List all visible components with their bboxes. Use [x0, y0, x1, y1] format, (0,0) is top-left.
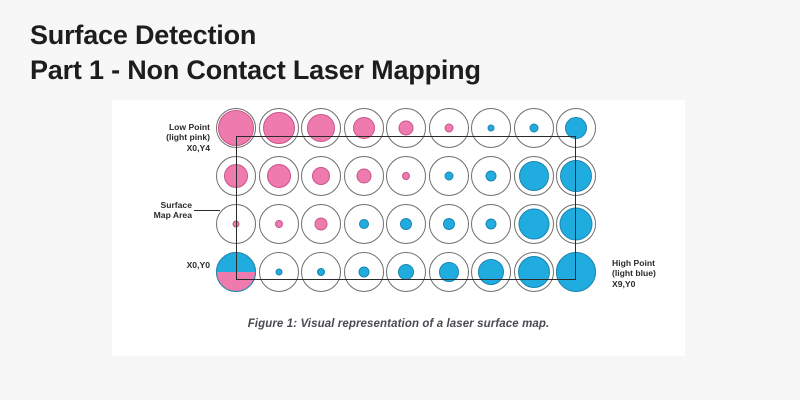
map-cell-x1-y2[interactable] [259, 204, 299, 244]
map-cell-x4-y2[interactable] [386, 204, 426, 244]
callout-surface-map-area-line-2: Map Area [134, 210, 192, 220]
callout-low-point-line-1: Low Point [140, 122, 210, 132]
map-cell-x0-y4[interactable] [216, 108, 256, 148]
height-dot-split [216, 252, 256, 292]
height-dot-pink [356, 169, 371, 184]
height-dot-blue [518, 256, 550, 288]
height-dot-blue [478, 259, 504, 285]
callout-origin-line-1: X0,Y0 [150, 260, 210, 270]
figure-panel: Low Point (light pink) X0,Y4 Surface Map… [112, 100, 685, 356]
map-cell-x4-y3[interactable] [386, 156, 426, 196]
height-dot-blue [519, 161, 549, 191]
map-cell-x0-y3[interactable] [216, 156, 256, 196]
height-dot-blue [486, 171, 497, 182]
height-dot-blue [486, 219, 497, 230]
page-title-line-2: Part 1 - Non Contact Laser Mapping [30, 53, 481, 88]
map-cell-x5-y2[interactable] [429, 204, 469, 244]
map-cell-x2-y2[interactable] [301, 204, 341, 244]
map-cell-x5-y4[interactable] [429, 108, 469, 148]
map-cell-x4-y4[interactable] [386, 108, 426, 148]
map-cell-x1-y1[interactable] [259, 252, 299, 292]
height-dot-blue [560, 160, 592, 192]
height-dot-blue [560, 208, 593, 241]
page-root: Surface Detection Part 1 - Non Contact L… [0, 0, 800, 400]
map-cell-x6-y1[interactable] [471, 252, 511, 292]
map-cell-x2-y4[interactable] [301, 108, 341, 148]
callout-low-point-line-3: X0,Y4 [140, 143, 210, 153]
map-cell-x3-y2[interactable] [344, 204, 384, 244]
height-dot-pink [353, 117, 375, 139]
height-dot-blue [317, 268, 325, 276]
height-dot-pink [218, 110, 254, 146]
map-cell-x8-y1[interactable] [556, 252, 596, 292]
map-cell-x3-y3[interactable] [344, 156, 384, 196]
map-cell-x3-y1[interactable] [344, 252, 384, 292]
callout-surface-map-area: Surface Map Area [134, 200, 192, 221]
height-dot-blue [400, 218, 412, 230]
map-cell-x8-y4[interactable] [556, 108, 596, 148]
height-dot-pink [444, 124, 453, 133]
height-dot-blue [529, 124, 538, 133]
height-dot-pink [233, 221, 240, 228]
callout-low-point: Low Point (light pink) X0,Y4 [140, 122, 210, 153]
height-dot-pink [402, 172, 410, 180]
callout-surface-map-area-line-1: Surface [134, 200, 192, 210]
height-dot-pink [267, 164, 291, 188]
map-cell-x6-y4[interactable] [471, 108, 511, 148]
height-dot-blue [488, 125, 495, 132]
map-cell-x7-y4[interactable] [514, 108, 554, 148]
map-cell-x7-y3[interactable] [514, 156, 554, 196]
page-title-line-1: Surface Detection [30, 18, 481, 53]
map-cell-x1-y3[interactable] [259, 156, 299, 196]
map-cell-x0-y2[interactable] [216, 204, 256, 244]
height-dot-pink [307, 114, 335, 142]
map-cell-x5-y3[interactable] [429, 156, 469, 196]
map-cell-x6-y2[interactable] [471, 204, 511, 244]
height-dot-pink [263, 112, 295, 144]
height-dot-pink [312, 167, 330, 185]
map-cell-x7-y2[interactable] [514, 204, 554, 244]
figure-caption: Figure 1: Visual representation of a las… [112, 318, 685, 330]
height-dot-blue [359, 219, 369, 229]
height-dot-blue [444, 172, 453, 181]
map-cell-x8-y3[interactable] [556, 156, 596, 196]
height-dot-blue [565, 117, 587, 139]
figure-stage: Low Point (light pink) X0,Y4 Surface Map… [112, 100, 685, 315]
height-dot-pink [224, 164, 248, 188]
map-cell-x5-y1[interactable] [429, 252, 469, 292]
map-cell-x1-y4[interactable] [259, 108, 299, 148]
height-dot-blue [398, 264, 414, 280]
callout-high-point: High Point (light blue) X9,Y0 [612, 258, 692, 289]
height-dot-pink [399, 121, 414, 136]
callout-high-point-line-1: High Point [612, 258, 692, 268]
map-cell-x8-y2[interactable] [556, 204, 596, 244]
height-dot-blue [443, 218, 455, 230]
height-dot-pink [275, 220, 283, 228]
height-dot-blue [518, 209, 549, 240]
map-cell-x0-y1[interactable] [216, 252, 256, 292]
callout-low-point-line-2: (light pink) [140, 132, 210, 142]
leader-line-surface-map-area [194, 210, 220, 211]
map-cell-x6-y3[interactable] [471, 156, 511, 196]
map-cell-x7-y1[interactable] [514, 252, 554, 292]
height-dot-blue [556, 252, 596, 292]
map-cell-x2-y1[interactable] [301, 252, 341, 292]
laser-map-grid [216, 108, 602, 306]
height-dot-blue [439, 262, 459, 282]
callout-origin: X0,Y0 [150, 260, 210, 270]
map-cell-x2-y3[interactable] [301, 156, 341, 196]
height-dot-blue [358, 267, 369, 278]
map-cell-x3-y4[interactable] [344, 108, 384, 148]
map-cell-x4-y1[interactable] [386, 252, 426, 292]
page-title: Surface Detection Part 1 - Non Contact L… [30, 18, 481, 88]
callout-high-point-line-3: X9,Y0 [612, 279, 692, 289]
height-dot-blue [275, 269, 282, 276]
height-dot-pink [315, 218, 328, 231]
callout-high-point-line-2: (light blue) [612, 268, 692, 278]
